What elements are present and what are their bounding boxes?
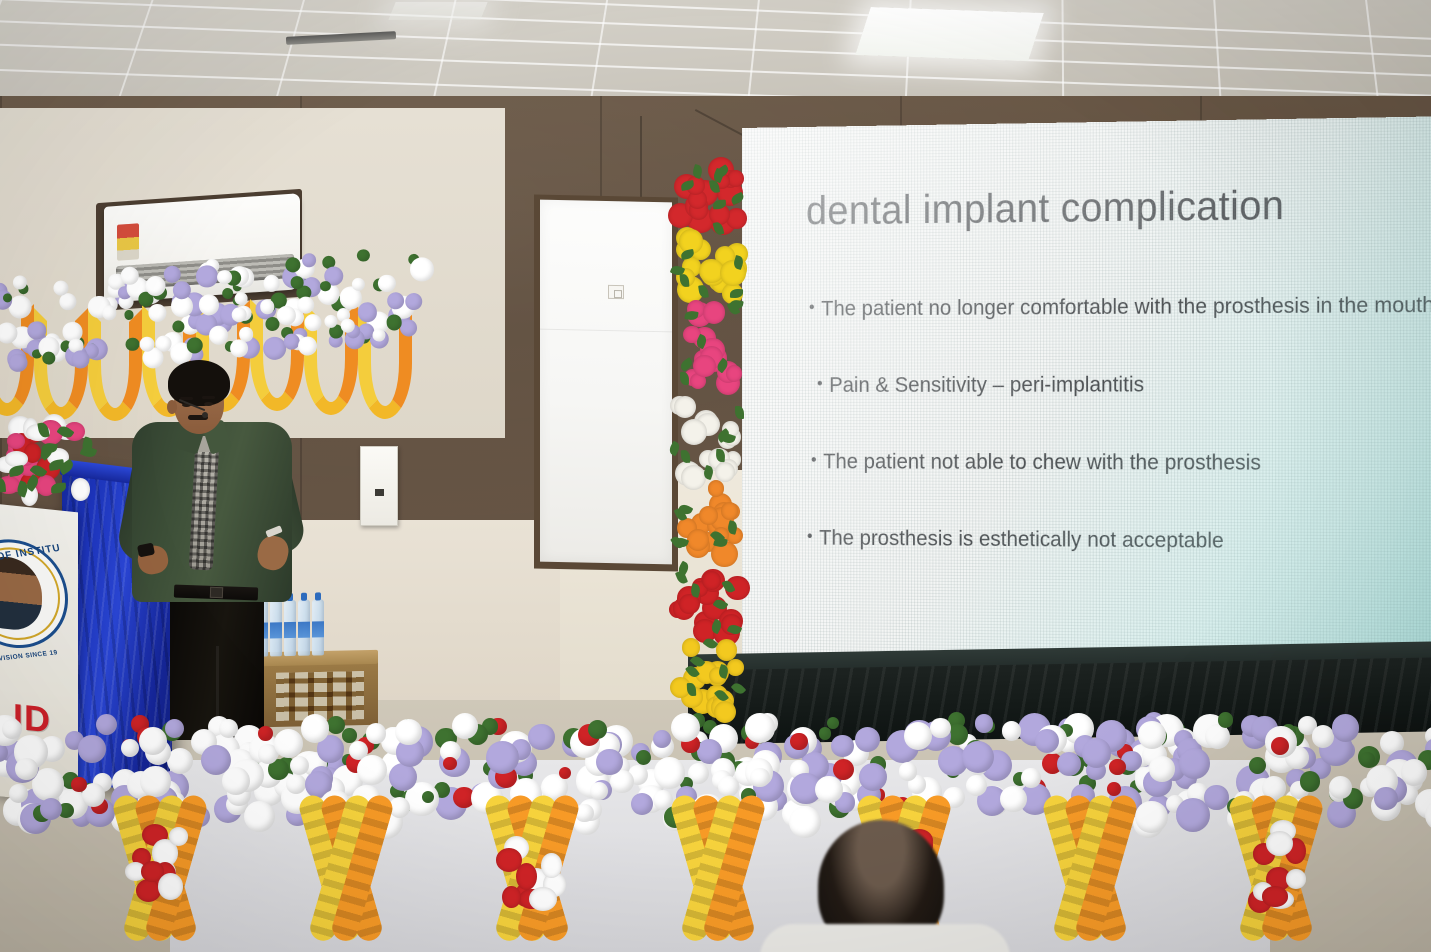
gerbera-flower: [699, 506, 718, 525]
gerbera-flower: [693, 355, 716, 378]
gerbera-flower: [716, 639, 738, 661]
foreground-flower: [815, 776, 843, 804]
backdrop-flower: [217, 269, 232, 284]
flower-band: [668, 480, 748, 564]
bouquet-flower: [5, 451, 28, 467]
gerbera-flower: [721, 502, 738, 519]
backdrop-flower: [148, 304, 167, 323]
foreground-flower: [1218, 712, 1233, 727]
foreground-flower: [1300, 771, 1321, 792]
gerbera-flower: [681, 419, 707, 445]
foreground-flower: [631, 793, 653, 815]
foreground-flower: [1332, 714, 1359, 741]
foreground-flower: [342, 728, 356, 742]
leaf: [731, 681, 747, 697]
foreground-flower: [1176, 798, 1210, 832]
foreground-flower: [654, 757, 685, 788]
foreground-flower: [1135, 801, 1168, 834]
gerbera-flower: [682, 638, 700, 656]
gerbera-flower: [726, 365, 743, 382]
gerbera-flower: [703, 301, 726, 324]
presentation-photo-scene: dental implant complication • The patien…: [0, 0, 1431, 952]
ceiling-light-panel-2: [388, 2, 487, 20]
foreground-flower: [899, 762, 918, 781]
foreground-flower: [244, 801, 275, 832]
foreground-flower: [855, 727, 880, 752]
whiteboard: [540, 200, 672, 565]
bouquet-flower: [7, 433, 25, 449]
accent-flower: [158, 873, 183, 899]
foreground-flower: [71, 777, 87, 793]
led-presentation-screen: dental implant complication • The patien…: [742, 116, 1431, 712]
backdrop-flower: [8, 353, 28, 373]
foreground-flower: [962, 741, 994, 773]
foreground-flower: [40, 798, 62, 820]
audience-member-shoulder: [760, 924, 1010, 952]
backdrop-flower: [101, 305, 117, 321]
backdrop-flower: [222, 288, 234, 300]
microphone-capsule-icon: [202, 412, 208, 418]
foreground-flower: [395, 719, 421, 745]
foreground-flower: [274, 729, 303, 758]
foreground-flower: [789, 806, 821, 838]
wall-socket-icon: [608, 285, 624, 299]
accent-flower: [1286, 869, 1306, 888]
foreground-flower: [452, 713, 478, 739]
backdrop-flower: [263, 274, 281, 292]
foreground-flower: [1138, 721, 1166, 749]
flower-band: [668, 224, 748, 300]
foreground-flower: [1107, 782, 1121, 796]
leaf: [680, 449, 690, 463]
foreground-flower: [1401, 759, 1427, 785]
vertical-flower-column: [668, 152, 748, 712]
foreground-flower: [165, 719, 184, 738]
backdrop-flower: [296, 296, 314, 314]
foreground-flower: [1374, 787, 1397, 810]
foreground-flower: [827, 717, 839, 729]
speaker-eye-right: [204, 402, 213, 406]
leaf: [691, 164, 703, 179]
foreground-flower: [222, 767, 250, 795]
gerbera-flower: [687, 529, 709, 551]
foreground-flower: [1360, 752, 1375, 767]
railing-post: [235, 901, 250, 952]
flower-band: [668, 396, 748, 480]
gerbera-flower: [702, 571, 722, 591]
foreground-flower: [790, 733, 807, 750]
led-screen-glare: [742, 116, 1431, 712]
leaf: [713, 221, 725, 236]
backdrop-flower: [377, 274, 396, 293]
foreground-flower: [745, 713, 774, 742]
foreground-flower: [1109, 759, 1126, 776]
energy-rating-sticker: [117, 223, 139, 261]
leaf: [51, 482, 67, 493]
flower-band: [668, 638, 748, 716]
foreground-flower: [750, 768, 769, 787]
backdrop-flower: [400, 319, 418, 337]
foreground-flower: [1205, 724, 1230, 749]
accent-flower: [516, 863, 537, 890]
panel-lock-icon: [375, 489, 384, 496]
backdrop-flower: [124, 310, 134, 320]
foreground-flower: [486, 741, 519, 774]
foreground-flower: [975, 714, 993, 732]
foreground-flower: [96, 714, 117, 735]
backdrop-flower: [196, 265, 219, 288]
foreground-flower: [1000, 786, 1027, 813]
backdrop-flower: [125, 337, 139, 351]
backdrop-flower: [303, 313, 322, 332]
speaker-hair: [168, 360, 230, 406]
foreground-flower: [1021, 768, 1041, 788]
foreground-flower: [290, 756, 309, 775]
foreground-flower: [636, 750, 651, 765]
ceiling-light-panel: [855, 7, 1044, 61]
accent-flower: [1262, 886, 1288, 906]
foreground-flower: [121, 739, 139, 757]
foreground-flower: [140, 766, 170, 796]
backdrop-flower: [352, 277, 366, 291]
foreground-flower: [528, 724, 554, 750]
backdrop-flower: [357, 249, 370, 262]
gerbera-flower: [727, 659, 743, 675]
foreground-flower: [1249, 757, 1266, 774]
foreground-flower: [78, 735, 105, 762]
foreground-flower: [559, 767, 571, 779]
metal-railing: [238, 892, 658, 952]
banner-sub-text: M VISION SINCE 19: [0, 649, 58, 663]
backdrop-flower: [298, 335, 318, 355]
flower-bouquet: [0, 412, 100, 522]
backdrop-flower: [41, 351, 55, 365]
foreground-flower: [596, 749, 623, 776]
flower-band: [668, 300, 748, 396]
flower-band: [668, 152, 748, 224]
foreground-flower: [1329, 776, 1352, 799]
accent-flower: [169, 827, 188, 845]
flower-band: [668, 564, 748, 638]
foreground-flower: [1035, 729, 1059, 753]
accent-flower: [541, 853, 562, 879]
foreground-flower: [1312, 725, 1335, 748]
backdrop-flower: [71, 350, 90, 369]
backdrop-flower: [290, 276, 303, 289]
foreground-flower: [1179, 748, 1210, 779]
leaf: [735, 406, 744, 419]
speaker-person: [122, 360, 308, 730]
foreground-flower: [301, 714, 329, 742]
foreground-flower: [859, 763, 887, 791]
foreground-flower: [327, 716, 345, 734]
speaker-ear: [167, 400, 177, 414]
foreground-flower: [904, 722, 932, 750]
foreground-flower: [357, 755, 387, 785]
foreground-flower: [930, 718, 951, 739]
foreground-flower: [1149, 756, 1175, 782]
foreground-flower: [1002, 721, 1021, 740]
foreground-flower: [366, 723, 387, 744]
speaker-eyebrow-right: [202, 396, 215, 399]
backdrop-flower: [234, 291, 248, 305]
foreground-flower: [819, 727, 832, 740]
electrical-panel: [360, 446, 398, 526]
bouquet-flower: [71, 478, 90, 501]
foreground-flower: [15, 758, 37, 780]
foreground-flower: [718, 776, 739, 797]
speaker-belt-buckle: [210, 587, 223, 598]
foreground-floral-decor: [0, 712, 1431, 952]
gerbera-flower: [708, 480, 725, 497]
foreground-flower: [139, 727, 167, 755]
foreground-flower: [443, 757, 456, 770]
foreground-flower: [590, 782, 608, 800]
water-bottle: [312, 599, 324, 655]
gerbera-flower: [674, 396, 696, 418]
foreground-flower: [1082, 738, 1112, 768]
accent-flower: [1266, 831, 1293, 856]
